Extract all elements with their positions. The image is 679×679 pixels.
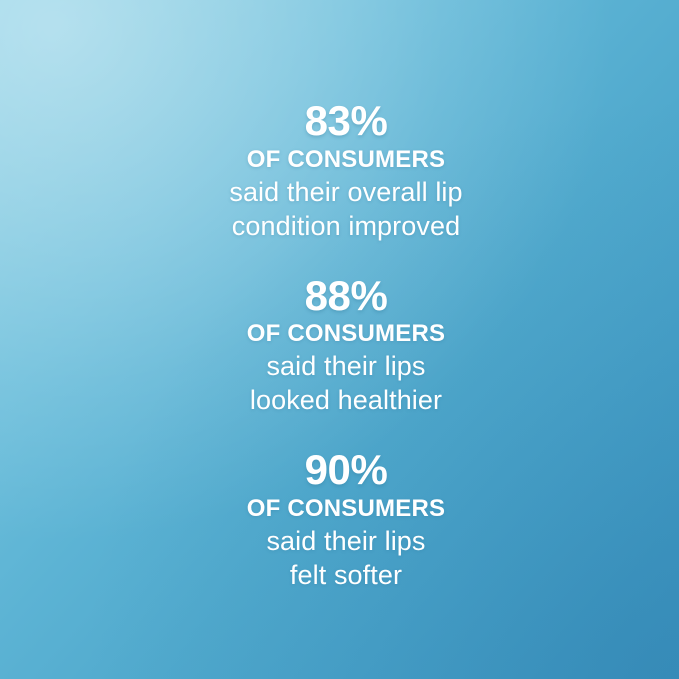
stat-percent: 88%	[13, 274, 679, 319]
stat-description-line: felt softer	[13, 558, 679, 592]
stat-block: 90% OF CONSUMERS said their lips felt so…	[13, 448, 679, 592]
stat-percent: 90%	[13, 448, 679, 493]
stat-percent: 83%	[13, 99, 679, 144]
stat-subhead: OF CONSUMERS	[13, 493, 679, 524]
stat-subhead: OF CONSUMERS	[13, 144, 679, 175]
stat-description: said their overall lip condition improve…	[13, 175, 679, 243]
stat-description-line: said their lips	[13, 524, 679, 558]
stat-description-line: said their overall lip	[13, 175, 679, 209]
stat-description: said their lips looked healthier	[13, 349, 679, 417]
stats-list: 83% OF CONSUMERS said their overall lip …	[0, 0, 679, 679]
stats-poster: 83% OF CONSUMERS said their overall lip …	[0, 0, 679, 679]
stat-description-line: looked healthier	[13, 383, 679, 417]
stat-description-line: condition improved	[13, 209, 679, 243]
stat-block: 83% OF CONSUMERS said their overall lip …	[13, 99, 679, 243]
stat-description: said their lips felt softer	[13, 524, 679, 592]
stat-description-line: said their lips	[13, 349, 679, 383]
stat-subhead: OF CONSUMERS	[13, 318, 679, 349]
stat-block: 88% OF CONSUMERS said their lips looked …	[13, 274, 679, 418]
